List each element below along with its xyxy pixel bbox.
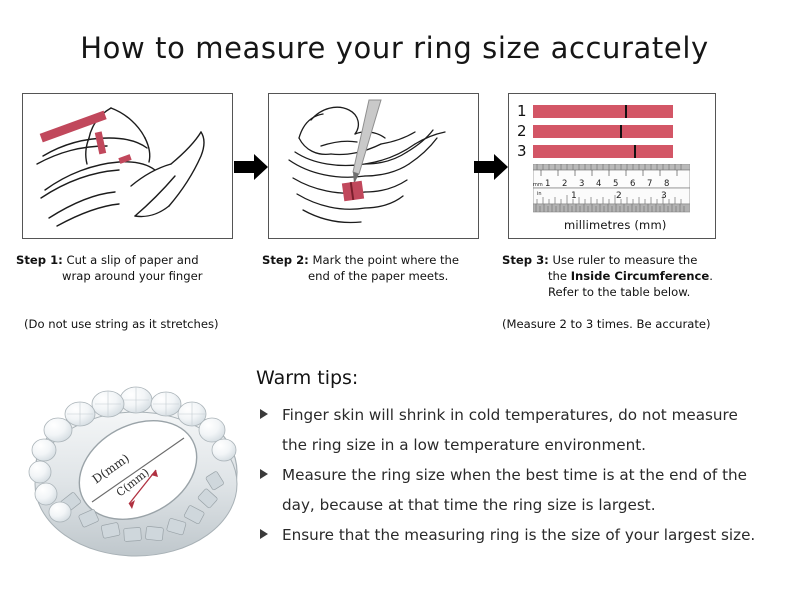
svg-text:7: 7 (647, 179, 652, 189)
step-2-line-2: end of the paper meets. (262, 268, 502, 284)
strip-number-2: 2 (517, 124, 533, 139)
step-1-note: (Do not use string as it stretches) (24, 317, 219, 331)
step-3-line-2-prefix: the (548, 269, 571, 283)
paper-strip-on-finger (95, 131, 132, 163)
measured-strip-row-1: 1 (517, 104, 673, 119)
eternity-ring-photo-illustration: D(mm) C(mm) (24, 352, 254, 577)
step-3-illustration-panel: 1 2 3 (508, 93, 716, 239)
strip-tick-1 (625, 105, 627, 118)
tip-item-2-text: Measure the ring size when the best time… (282, 466, 747, 514)
strip-tick-2 (620, 125, 622, 138)
measured-strip-row-3: 3 (517, 144, 673, 159)
ruler-unit-label: millimetres (mm) (564, 218, 667, 232)
svg-text:5: 5 (613, 179, 618, 189)
step-1-line-1: Cut a slip of paper and (66, 253, 198, 267)
triangle-bullet-icon (260, 529, 268, 539)
svg-text:3: 3 (579, 179, 584, 189)
ring-diagram: D(mm) C(mm) (24, 352, 254, 577)
warm-tips-heading: Warm tips: (256, 367, 358, 389)
step-2-line-1: Mark the point where the (312, 253, 459, 267)
paper-strip-marked (342, 181, 364, 202)
step-3-line-3: Refer to the table below. (502, 284, 772, 300)
step-1-caption: Step 1: Cut a slip of paper and wrap aro… (16, 252, 256, 284)
paper-strip-3 (533, 145, 673, 158)
strip-number-1: 1 (517, 104, 533, 119)
step-3-line-1: Use ruler to measure the (552, 253, 697, 267)
step-1-line-2: wrap around your finger (16, 268, 256, 284)
page-title: How to measure your ring size accurately (0, 31, 789, 65)
triangle-bullet-icon (260, 469, 268, 479)
step-3-line-2: the Inside Circumference. (502, 268, 772, 284)
svg-text:3: 3 (661, 191, 667, 201)
svg-text:2: 2 (562, 179, 567, 189)
step-1-label: Step 1: (16, 253, 63, 267)
step-2-illustration-panel (268, 93, 479, 239)
arrow-step1-to-step2 (234, 152, 270, 182)
strip-number-3: 3 (517, 144, 533, 159)
svg-text:mm: mm (533, 182, 543, 188)
warm-tips-list: Finger skin will shrink in cold temperat… (256, 400, 766, 550)
step-3-note: (Measure 2 to 3 times. Be accurate) (502, 317, 711, 331)
paper-strip-2 (533, 125, 673, 138)
tip-item-3: Ensure that the measuring ring is the si… (256, 520, 766, 550)
svg-text:in: in (537, 191, 542, 197)
ruler-graphic: 123 456 78 mm 123 in (533, 164, 690, 216)
strip-tick-3 (634, 145, 636, 158)
step-3-emphasis: Inside Circumference (571, 269, 710, 283)
hand-marking-paper-drawing (269, 94, 478, 238)
measured-strip-row-2: 2 (517, 124, 673, 139)
step-3-label: Step 3: (502, 253, 549, 267)
hand-with-paper-strip-drawing (23, 94, 232, 238)
triangle-bullet-icon (260, 409, 268, 419)
tip-item-3-text: Ensure that the measuring ring is the si… (282, 526, 755, 544)
svg-text:1: 1 (545, 179, 550, 189)
paper-strip-1 (533, 105, 673, 118)
ring-size-guide-page: How to measure your ring size accurately (0, 0, 789, 606)
step-1-illustration-panel (22, 93, 233, 239)
step-3-caption: Step 3: Use ruler to measure the the Ins… (502, 252, 772, 300)
tip-item-1: Finger skin will shrink in cold temperat… (256, 400, 766, 460)
step-2-caption: Step 2: Mark the point where the end of … (262, 252, 502, 284)
arrow-step2-to-step3 (474, 152, 510, 182)
svg-text:8: 8 (664, 179, 669, 189)
svg-text:1: 1 (571, 191, 577, 201)
tip-item-1-text: Finger skin will shrink in cold temperat… (282, 406, 738, 454)
svg-text:4: 4 (596, 179, 601, 189)
svg-text:6: 6 (630, 179, 635, 189)
tip-item-2: Measure the ring size when the best time… (256, 460, 766, 520)
step-2-label: Step 2: (262, 253, 309, 267)
step-3-line-2-suffix: . (709, 269, 713, 283)
